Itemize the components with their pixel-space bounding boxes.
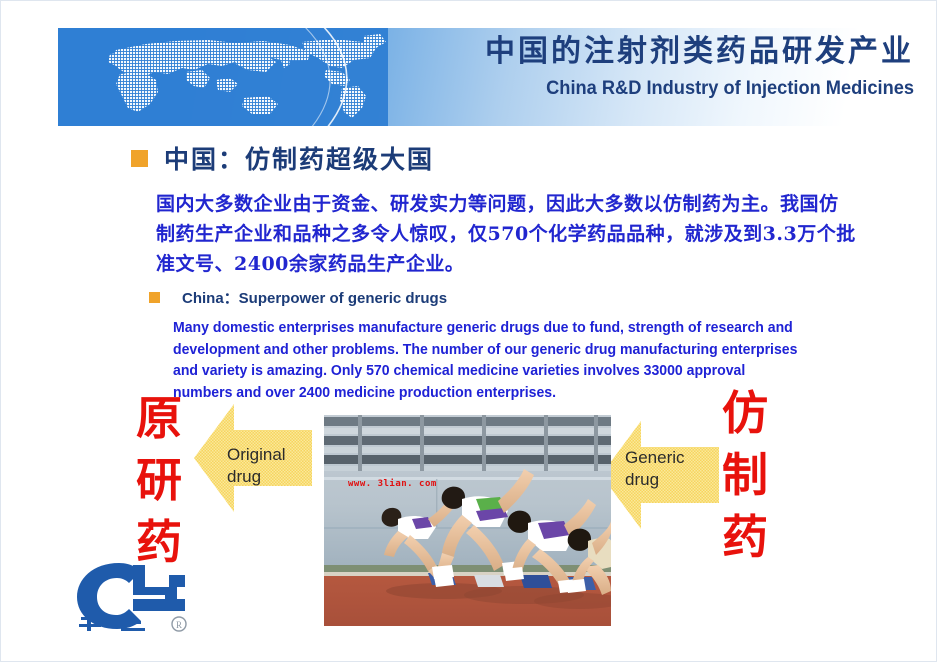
- bullet-square-icon: [131, 150, 148, 167]
- sprinters-photo: www. 3lian. com: [324, 415, 611, 626]
- page-title-en: China R&D Industry of Injection Medicine…: [405, 78, 914, 100]
- heading-en-row: China：Superpower of generic drugs: [149, 287, 447, 308]
- heading-en-label: China：Superpower of generic drugs: [182, 287, 447, 308]
- red-label-original-drug: 原研药: [129, 387, 189, 573]
- header-title-block: 中国的注射剂类药品研发产业 China R&D Industry of Inje…: [384, 32, 914, 100]
- header-banner: 中国的注射剂类药品研发产业 China R&D Industry of Inje…: [58, 28, 930, 126]
- paragraph-en: Many domestic enterprises manufacture ge…: [173, 318, 804, 404]
- heading-cn-row: 中国：仿制药超级大国: [131, 140, 434, 176]
- arrow-left-label: Original drug: [227, 444, 307, 488]
- svg-text:www. 3lian. com: www. 3lian. com: [348, 478, 437, 489]
- company-logo-icon: R: [73, 557, 198, 635]
- paragraph-cn: 国内大多数企业由于资金、研发实力等问题，因此大多数以仿制药为主。我国仿制药生产企…: [156, 189, 856, 279]
- arrow-right-label-line1: Generic: [625, 447, 705, 469]
- arrow-right-label-line2: drug: [625, 469, 705, 491]
- page-title-cn: 中国的注射剂类药品研发产业: [384, 32, 914, 71]
- red-label-generic-drug: 仿制药: [715, 382, 775, 568]
- sprinters-starting-blocks-image: www. 3lian. com: [324, 415, 611, 626]
- bullet-square-small-icon: [149, 292, 160, 303]
- arrow-left-label-line2: drug: [227, 466, 307, 488]
- hualan-logo: R: [73, 557, 198, 635]
- presentation-slide: 中国的注射剂类药品研发产业 China R&D Industry of Inje…: [0, 0, 937, 662]
- svg-text:R: R: [176, 620, 182, 630]
- world-map-dots-icon: [58, 28, 388, 126]
- arrow-right-label: Generic drug: [625, 447, 705, 491]
- heading-cn-label: 中国：仿制药超级大国: [164, 140, 434, 176]
- arrow-left-label-line1: Original: [227, 444, 307, 466]
